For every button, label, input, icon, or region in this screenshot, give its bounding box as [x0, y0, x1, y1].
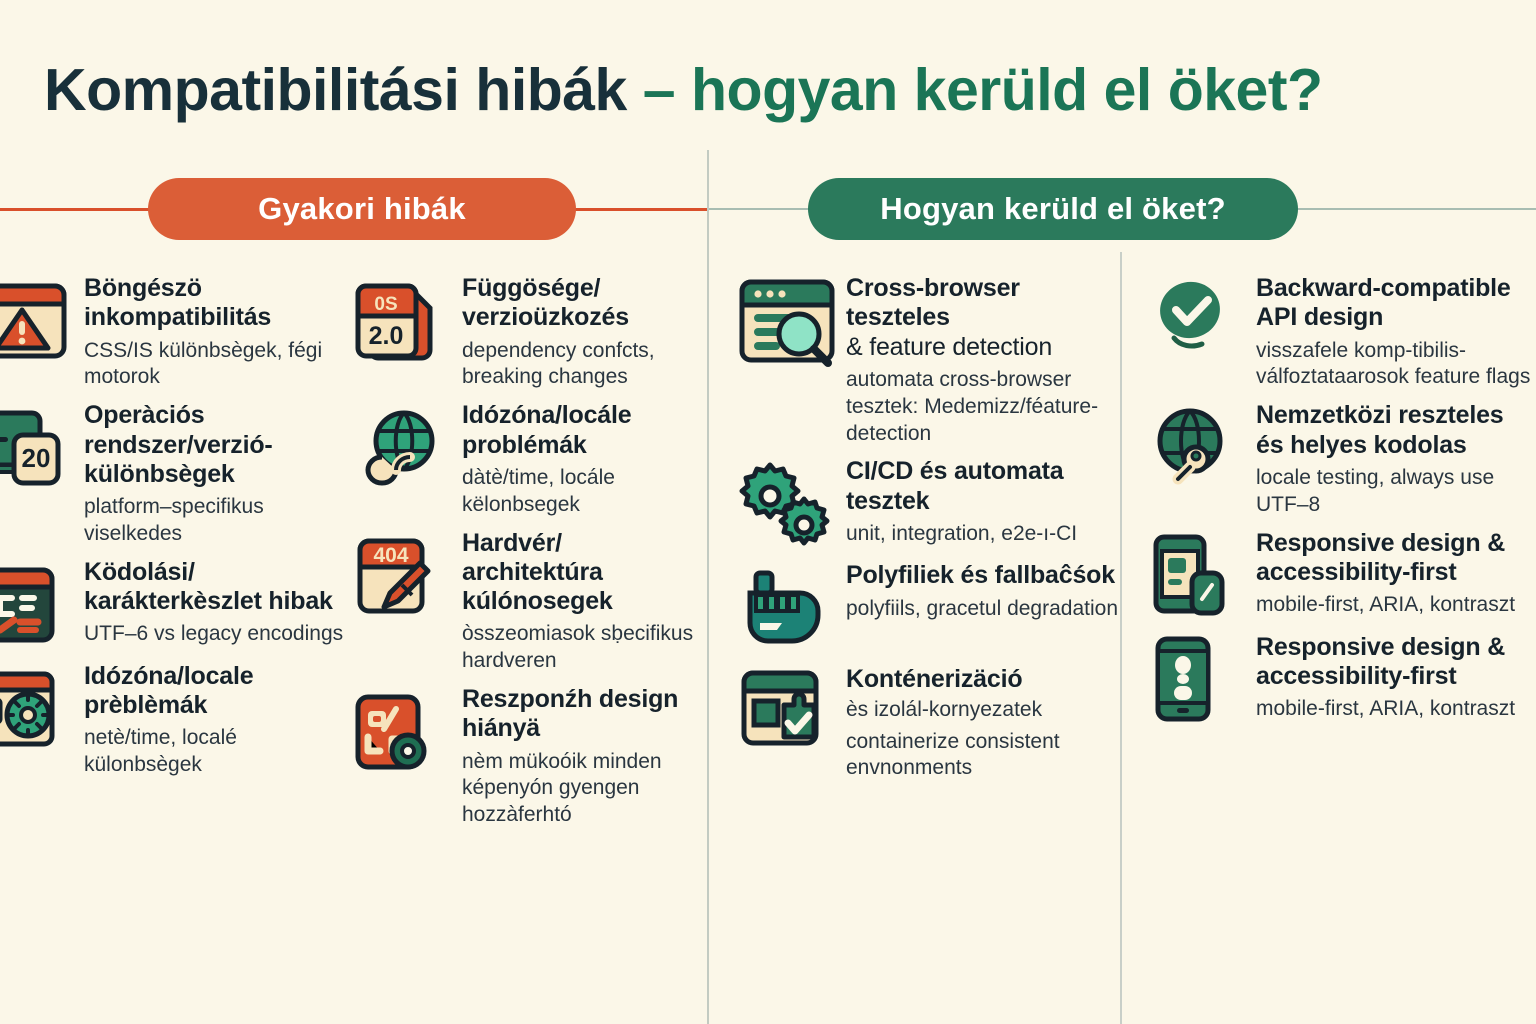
list-item-desc: dàtè/time, locále këlonbsegek	[462, 465, 704, 519]
list-item-title: CI/CD és automata tesztek	[846, 457, 1118, 516]
browser-warning-icon	[0, 272, 70, 368]
list-item-desc: UTF–6 vs legacy encodings	[84, 621, 348, 648]
phone-accessibility-icon	[1146, 631, 1242, 727]
list-item: Konténerizäció ès izolál-kornyezatek con…	[736, 663, 1118, 782]
page-title: Kompatibilitási hibák – hogyan kerüld el…	[44, 56, 1323, 124]
list-item: Nemzetközi reszteles és helyes kodolas l…	[1146, 399, 1536, 518]
check-badge-icon	[1146, 272, 1242, 368]
list-item-title: Függösége/ verzioüzkozés	[462, 274, 704, 333]
list-item-desc: mobile-first, ARIA, kontraszt	[1256, 696, 1536, 723]
container-check-icon	[736, 663, 832, 759]
section-header-how-to-avoid-label: Hogyan kerüld el öket?	[880, 191, 1225, 227]
vertical-divider-right	[1120, 252, 1122, 1024]
list-item-title: Idózóna/locále problémák	[462, 401, 704, 460]
list-item: Böngészö inkompatibilitás CSS/IS különbs…	[0, 272, 348, 391]
globe-link-icon	[352, 399, 448, 495]
version-tag-icon: 0S 2.0	[352, 272, 448, 368]
list-item-title: Responsive design & accessibility-first	[1256, 529, 1536, 588]
errors-column-1: Böngészö inkompatibilitás CSS/IS különbs…	[0, 272, 348, 787]
fixes-column-2: Backward-compatible API design visszafel…	[1146, 272, 1536, 735]
list-item-subtitle: ès izolál-kornyezatek	[846, 697, 1118, 724]
list-item-title: Polyfiliek és fallbaĉśok	[846, 561, 1118, 590]
list-item-desc: netè/time, localé külonbsègek	[84, 725, 348, 779]
list-item-desc: dependency confcts, breaking changes	[462, 338, 704, 392]
list-item-text: Konténerizäció ès izolál-kornyezatek con…	[846, 663, 1118, 782]
list-item-text: Responsive design & accessibility-first …	[1256, 527, 1536, 623]
list-item-text: Idózóna/locále problémák dàtè/time, locá…	[462, 399, 704, 518]
list-item-title: Operàciós rendszer/verzió-különbsègek	[84, 401, 348, 489]
section-header-how-to-avoid: Hogyan kerüld el öket?	[808, 178, 1298, 240]
list-item-text: Responsive design & accessibility-first …	[1256, 631, 1536, 727]
error-404-pen-icon: 404	[352, 527, 448, 623]
list-item-title: Idózóna/locale prèblèmák	[84, 662, 348, 721]
list-item: Idózóna/locále problémák dàtè/time, locá…	[352, 399, 704, 518]
list-item-title-2: & feature detection	[846, 333, 1118, 362]
list-item: Reszponźh design hiányä nèm mükoóik mind…	[352, 683, 704, 829]
docker-whale-icon	[736, 559, 832, 655]
list-item-title: Cross-browser teszteles	[846, 274, 1118, 333]
list-item: Responsive design & accessibility-first …	[1146, 527, 1536, 623]
list-item-title: Nemzetközi reszteles és helyes kodolas	[1256, 401, 1536, 460]
gears-icon	[736, 455, 832, 551]
list-item-text: Hardvér/ architektúra kúlónosegek òsszeo…	[462, 527, 704, 676]
list-item-desc: nèm mükoóik minden képenyón gyengen hozz…	[462, 749, 704, 830]
list-item-text: Reszponźh design hiányä nèm mükoóik mind…	[462, 683, 704, 829]
list-item-text: Ködolási/ karákterkèszlet hibak UTF–6 vs…	[84, 556, 348, 652]
list-item-title: Reszponźh design hiányä	[462, 685, 704, 744]
error-code-label: 404	[373, 544, 408, 567]
errors-column-2: 0S 2.0 Függösége/ verzioüzkozés dependen…	[352, 272, 704, 837]
list-item-title: Ködolási/ karákterkèszlet hibak	[84, 558, 348, 617]
list-item-desc: containerize consistent envnonments	[846, 729, 1118, 783]
responsive-broken-icon	[352, 683, 448, 779]
section-header-common-errors: Gyakori hibák	[148, 178, 576, 240]
list-item-desc: CSS/IS különbsègek, fégi motorok	[84, 338, 348, 392]
list-item-text: Nemzetközi reszteles és helyes kodolas l…	[1256, 399, 1536, 518]
globe-key-icon	[1146, 399, 1242, 495]
window-globe-icon	[0, 660, 70, 756]
list-item: Polyfiliek és fallbaĉśok polyfiils, grac…	[736, 559, 1118, 655]
list-item-desc: polyfiils, gracetul degradation	[846, 596, 1118, 623]
list-item: Backward-compatible API design visszafel…	[1146, 272, 1536, 391]
section-header-common-errors-label: Gyakori hibák	[258, 191, 466, 227]
browser-search-icon	[736, 272, 832, 368]
page-title-primary: Kompatibilitási hibák	[44, 57, 627, 123]
version-tag-bottom-label: 2.0	[369, 322, 404, 350]
list-item-text: Idózóna/locale prèblèmák netè/time, loca…	[84, 660, 348, 779]
list-item-desc: platform–specifikus viselkedes	[84, 494, 348, 548]
list-item-desc: automata cross-browser tesztek: Medemizz…	[846, 367, 1118, 448]
list-item: Responsive design & accessibility-first …	[1146, 631, 1536, 727]
infographic-page: Kompatibilitási hibák – hogyan kerüld el…	[0, 0, 1536, 1024]
list-item-title: Hardvér/ architektúra kúlónosegek	[462, 529, 704, 617]
list-item-text: CI/CD és automata tesztek unit, integrat…	[846, 455, 1118, 551]
list-item: Ködolási/ karákterkèszlet hibak UTF–6 vs…	[0, 556, 348, 652]
list-item-title: Konténerizäció	[846, 665, 1118, 694]
list-item: Idózóna/locale prèblèmák netè/time, loca…	[0, 660, 348, 779]
list-item-desc: visszafele komp-tibilis-válfoztataarosok…	[1256, 338, 1536, 392]
svg-text:20: 20	[22, 443, 51, 473]
list-item-text: Böngészö inkompatibilitás CSS/IS különbs…	[84, 272, 348, 391]
list-item-text: Polyfiliek és fallbaĉśok polyfiils, grac…	[846, 559, 1118, 655]
list-item-text: Operàciós rendszer/verzió-különbsègek pl…	[84, 399, 348, 548]
list-item-desc: locale testing, always use UTF–8	[1256, 465, 1536, 519]
list-item-desc: mobile-first, ARIA, kontraszt	[1256, 592, 1536, 619]
monitor-version-icon: 20	[0, 399, 70, 495]
phone-tablet-icon	[1146, 527, 1242, 623]
list-item: 20 Operàciós rendszer/verzió-különbsègek…	[0, 399, 348, 548]
list-item-text: Függösége/ verzioüzkozés dependency conf…	[462, 272, 704, 391]
list-item-text: Backward-compatible API design visszafel…	[1256, 272, 1536, 391]
list-item: CI/CD és automata tesztek unit, integrat…	[736, 455, 1118, 551]
page-title-secondary: – hogyan kerüld el öket?	[643, 57, 1323, 123]
list-item-title: Böngészö inkompatibilitás	[84, 274, 348, 333]
list-item-desc: òsszeomiasok sḅecifikus hardveren	[462, 621, 704, 675]
list-item-text: Cross-browser teszteles & feature detect…	[846, 272, 1118, 447]
terminal-encoding-icon	[0, 556, 70, 652]
list-item: Cross-browser teszteles & feature detect…	[736, 272, 1118, 447]
list-item-desc: unit, integration, e2e-ı-CI	[846, 521, 1118, 548]
vertical-divider-center	[707, 150, 709, 1024]
version-tag-top-label: 0S	[374, 294, 397, 315]
list-item-title: Responsive design & accessibility-first	[1256, 633, 1536, 692]
list-item-title: Backward-compatible API design	[1256, 274, 1536, 333]
list-item: 404 Hardvér/ architektúra kúlónosegek òs…	[352, 527, 704, 676]
list-item: 0S 2.0 Függösége/ verzioüzkozés dependen…	[352, 272, 704, 391]
fixes-column-1: Cross-browser teszteles & feature detect…	[736, 272, 1118, 790]
